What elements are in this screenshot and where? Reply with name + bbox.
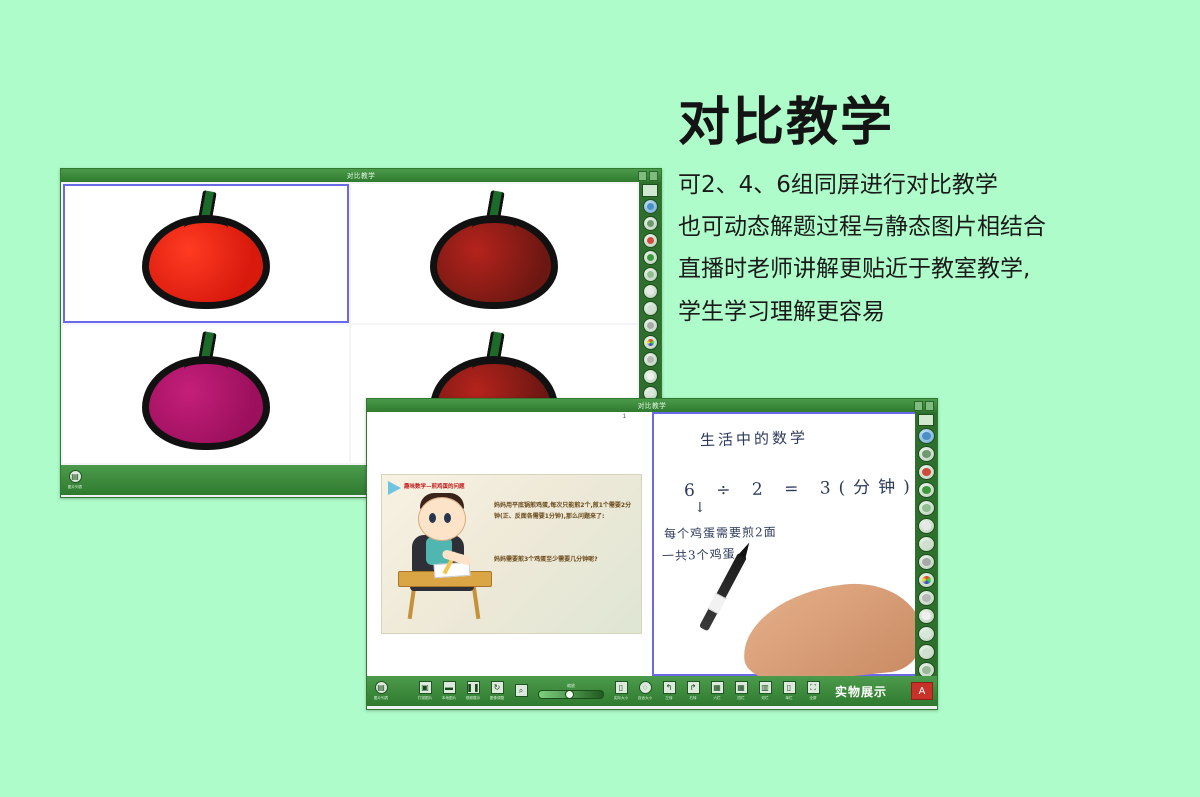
fit-size-icon: ◌ (639, 681, 652, 694)
feature-line-3: 直播时老师讲解更贴近于教室教学, (678, 253, 1188, 286)
fit-size-button[interactable]: ◌ 自适大小 (635, 681, 655, 701)
eraser-icon[interactable] (643, 267, 658, 282)
whiteboard-panel[interactable]: 生活中的数学 6 ÷ 2 = 3(分钟) ↓ 每个鸡蛋需要煎2面 一共3个鸡蛋 (652, 412, 937, 676)
handwriting-line-3: 每个鸡蛋需要煎2面 (664, 523, 777, 542)
screen-capture-icon[interactable] (642, 184, 658, 197)
palette-icon[interactable] (643, 335, 658, 350)
handwriting-line-2: 6 ÷ 2 = 3(分钟) (684, 472, 918, 501)
apple-image-dark-1 (430, 197, 558, 309)
marketing-copy: 对比教学 可2、4、6组同屏进行对比教学 也可动态解题过程与静态图片相结合 直播… (678, 96, 1188, 338)
slide-paragraph-2: 妈妈需要煎3个鸡蛋至少需要几分钟呢? (494, 555, 634, 566)
rotate-right-button[interactable]: ↱ 右转 (683, 681, 703, 701)
actual-size-button[interactable]: ▯ 实际大小 (611, 681, 631, 701)
screen-capture-icon[interactable] (918, 414, 934, 426)
six-column-icon: ▦ (711, 681, 724, 694)
marker-icon[interactable] (643, 250, 658, 265)
four-column-button[interactable]: ▦ 四栏 (731, 681, 751, 701)
zoom-slider-track[interactable] (538, 690, 604, 699)
minimize-icon[interactable] (914, 401, 923, 411)
star-icon[interactable] (643, 284, 658, 299)
page-number: 1 (623, 414, 626, 420)
four-column-icon: ▦ (735, 681, 748, 694)
mode-label: 实物展示 (835, 683, 887, 700)
cartoon-student-illustration (396, 493, 492, 625)
shape-icon[interactable] (643, 352, 658, 367)
fullscreen-icon: ⛶ (807, 681, 820, 694)
six-column-button[interactable]: ▦ 六栏 (707, 681, 727, 701)
rotate-right-icon: ↱ (687, 681, 700, 694)
window2-toolbar[interactable]: ▤ 图片列表 ▣ 打描图片 ▬ 本地图片 ❚❚ 视频展示 ↻ 图像调整 ⌕ 缩放 (367, 676, 937, 706)
window2-controls[interactable] (914, 401, 934, 411)
image-adjust-button[interactable]: ↻ 图像调整 (487, 681, 507, 701)
hand-photo (738, 577, 927, 676)
pen-icon[interactable] (918, 446, 935, 462)
pause-icon: ❚❚ (467, 681, 480, 694)
apple-image-magenta (142, 338, 270, 450)
slide-title: 趣味数学—煎鸡蛋的问题 (404, 482, 465, 490)
rotate-left-icon: ↰ (663, 681, 676, 694)
rotate-left-button[interactable]: ↰ 左转 (659, 681, 679, 701)
capture-icon: ▣ (419, 681, 432, 694)
marker-icon[interactable] (918, 482, 935, 498)
undo-icon[interactable] (918, 644, 935, 660)
panel-top-left[interactable] (63, 184, 349, 323)
fullscreen-button[interactable]: ⛶ 全屏 (803, 681, 823, 701)
window1-title-bar[interactable]: 对比教学 (61, 169, 661, 182)
eraser-icon[interactable] (918, 500, 935, 516)
clear-icon[interactable] (643, 301, 658, 316)
spot-icon[interactable] (643, 369, 658, 384)
comparison-window-2[interactable]: 对比教学 1 趣味数学—煎鸡蛋的问题 (366, 398, 938, 710)
zoom-slider-knob[interactable] (565, 690, 574, 699)
handwriting-board[interactable]: 生活中的数学 6 ÷ 2 = 3(分钟) ↓ 每个鸡蛋需要煎2面 一共3个鸡蛋 (656, 416, 913, 672)
shape-icon[interactable] (918, 590, 935, 606)
feature-line-1: 可2、4、6组同屏进行对比教学 (678, 169, 1188, 202)
window1-title: 对比教学 (347, 171, 376, 181)
image-list-button[interactable]: ▤ 图片列表 (371, 681, 391, 701)
apple-image-red (142, 197, 270, 309)
window2-tool-rail[interactable] (915, 412, 937, 676)
panel-top-right[interactable] (351, 184, 637, 323)
zoom-slider[interactable]: 缩放 (538, 683, 604, 699)
handwriting-line-1: 生活中的数学 (700, 427, 809, 451)
feature-line-2: 也可动态解题过程与静态图片相结合 (678, 211, 1188, 244)
refresh-icon: ↻ (491, 681, 504, 694)
image-list-icon: ▤ (69, 470, 82, 483)
line-icon[interactable] (918, 554, 935, 570)
window2-title-bar[interactable]: 对比教学 (367, 399, 937, 412)
actual-size-icon: ▯ (615, 681, 628, 694)
pen-photo (699, 553, 747, 632)
local-image-button[interactable]: ▬ 本地图片 (439, 681, 459, 701)
page-title: 对比教学 (678, 96, 1188, 151)
keyboard-icon[interactable] (918, 662, 935, 676)
lesson-slide[interactable]: 趣味数学—煎鸡蛋的问题 妈妈用平底锅煎鸡蛋,每次只能煎2个,煎1个需要2分钟(正… (381, 474, 642, 634)
video-display-button[interactable]: ❚❚ 视频展示 (463, 681, 483, 701)
slide-paragraph-1: 妈妈用平底锅煎鸡蛋,每次只能煎2个,煎1个需要2分钟(正、反面各需要1分钟),那… (494, 501, 634, 522)
feature-line-4: 学生学习理解更容易 (678, 296, 1188, 329)
cursor-icon[interactable] (918, 626, 935, 642)
highlighter-icon[interactable] (643, 233, 658, 248)
image-list-icon: ▤ (375, 681, 388, 694)
highlighter-icon[interactable] (918, 464, 935, 480)
one-column-button[interactable]: ▯ 单栏 (779, 681, 799, 701)
line-icon[interactable] (643, 318, 658, 333)
panel-bottom-left[interactable] (63, 325, 349, 464)
brand-logo: A (911, 682, 933, 700)
image-list-button[interactable]: ▤ 图片列表 (65, 470, 85, 490)
two-column-button[interactable]: ▥ 双栏 (755, 681, 775, 701)
spot-icon[interactable] (918, 608, 935, 624)
window1-controls[interactable] (638, 171, 658, 181)
window2-title: 对比教学 (638, 401, 667, 411)
slide-panel[interactable]: 1 趣味数学—煎鸡蛋的问题 妈妈用平底锅煎鸡蛋,每次只 (367, 412, 652, 676)
star-icon[interactable] (918, 518, 935, 534)
local-icon: ▬ (443, 681, 456, 694)
one-column-icon: ▯ (783, 681, 796, 694)
two-column-icon: ▥ (759, 681, 772, 694)
zoom-icon: ⌕ (515, 684, 528, 697)
close-icon[interactable] (925, 401, 934, 411)
select-icon[interactable] (918, 428, 935, 444)
handwriting-line-4: 一共3个鸡蛋 (662, 545, 736, 565)
select-icon[interactable] (643, 199, 658, 214)
zoom-button[interactable]: ⌕ (511, 684, 531, 698)
minimize-icon[interactable] (638, 171, 647, 181)
window2-body: 1 趣味数学—煎鸡蛋的问题 妈妈用平底锅煎鸡蛋,每次只 (367, 412, 937, 676)
close-icon[interactable] (649, 171, 658, 181)
palette-icon[interactable] (918, 572, 935, 588)
scan-image-button[interactable]: ▣ 打描图片 (415, 681, 435, 701)
pen-icon[interactable] (643, 216, 658, 231)
handwriting-arrow: ↓ (694, 500, 706, 516)
clear-icon[interactable] (918, 536, 935, 552)
